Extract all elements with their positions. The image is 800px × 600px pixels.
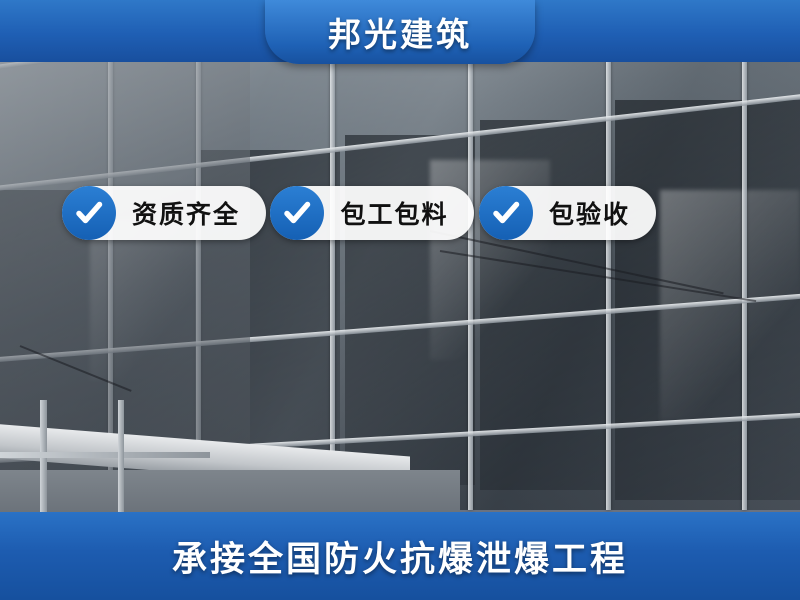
brand-name: 邦光建筑 <box>328 8 472 56</box>
background-photo <box>0 0 800 600</box>
feature-label: 包工包料 <box>340 195 448 231</box>
window-mullion <box>468 40 473 510</box>
window-mullion <box>606 40 611 510</box>
poster-root: 邦光建筑 资质齐全 包工包料 <box>0 0 800 600</box>
check-icon <box>270 186 324 240</box>
scaffold-pole <box>118 400 124 515</box>
feature-label: 资质齐全 <box>132 195 240 231</box>
brand-tab: 邦光建筑 <box>265 0 535 64</box>
check-icon <box>479 186 533 240</box>
feature-label: 包验收 <box>549 195 630 231</box>
scaffold-pole <box>0 452 210 458</box>
window-mullion <box>742 40 747 510</box>
check-icon <box>62 186 116 240</box>
scaffold-pole <box>40 400 47 520</box>
feature-item-1: 包工包料 <box>270 186 474 240</box>
feature-item-0: 资质齐全 <box>62 186 266 240</box>
slogan-text: 承接全国防火抗爆泄爆工程 <box>172 531 628 582</box>
feature-list: 资质齐全 包工包料 包验收 <box>62 186 656 252</box>
feature-item-2: 包验收 <box>479 186 656 240</box>
bottom-banner: 承接全国防火抗爆泄爆工程 <box>0 512 800 600</box>
